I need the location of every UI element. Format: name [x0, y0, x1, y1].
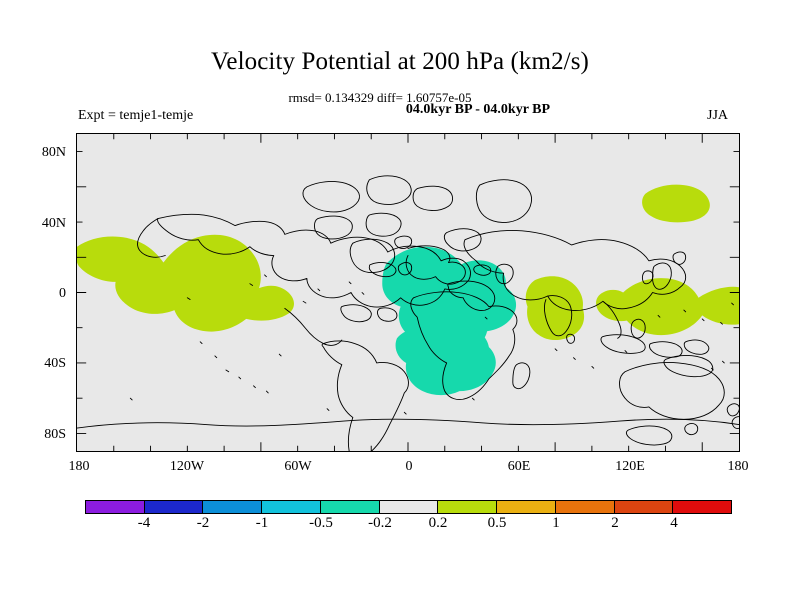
- colorbar-swatch-4: [320, 501, 379, 513]
- colorbar-swatch-10: [672, 501, 731, 513]
- tick-marks-right: [730, 152, 739, 434]
- xtick-label-120w: 120W: [170, 459, 204, 475]
- colorbar-label-9: 4: [670, 515, 678, 532]
- ytick-label-80n: 80N: [42, 145, 66, 161]
- map-plot-area: [76, 133, 740, 452]
- xtick-label-0: 0: [406, 459, 413, 475]
- colorbar-label-7: 1: [552, 515, 560, 532]
- tick-marks-top: [114, 134, 702, 143]
- ytick-label-80s: 80S: [44, 427, 66, 443]
- region-indian-ocean-positive: [526, 276, 584, 340]
- experiment-label: Expt = temje1-temje: [78, 108, 193, 124]
- tick-marks-bottom: [114, 442, 702, 451]
- colorbar-label-3: -0.5: [309, 515, 333, 532]
- colorbar-label-6: 0.5: [488, 515, 507, 532]
- season-label: JJA: [707, 108, 728, 124]
- colorbar-swatch-7: [496, 501, 555, 513]
- plot-canvas: Velocity Potential at 200 hPa (km2/s) rm…: [0, 0, 800, 600]
- xtick-label-60e: 60E: [508, 459, 531, 475]
- region-northeast-asia-positive: [642, 185, 710, 223]
- xtick-label-180w: 180: [69, 459, 90, 475]
- colorbar-swatch-5: [379, 501, 438, 513]
- page-title: Velocity Potential at 200 hPa (km2/s): [0, 48, 800, 76]
- colorbar: [85, 500, 732, 514]
- colorbar-swatch-9: [614, 501, 673, 513]
- colorbar-swatch-1: [144, 501, 203, 513]
- xtick-label-120e: 120E: [615, 459, 645, 475]
- colorbar-label-5: 0.2: [429, 515, 448, 532]
- colorbar-label-4: -0.2: [368, 515, 392, 532]
- ytick-label-40s: 40S: [44, 356, 66, 372]
- colorbar-label-2: -1: [256, 515, 269, 532]
- ytick-label-0: 0: [59, 286, 66, 302]
- colorbar-swatch-8: [555, 501, 614, 513]
- xtick-label-180e: 180: [728, 459, 749, 475]
- colorbar-swatch-3: [261, 501, 320, 513]
- world-map-svg: [77, 134, 739, 451]
- ytick-label-40n: 40N: [42, 216, 66, 232]
- colorbar-label-0: -4: [138, 515, 151, 532]
- region-east-pacific-positive: [77, 235, 294, 332]
- region-west-pacific-positive: [596, 278, 739, 335]
- data-fill-layer: [77, 185, 739, 395]
- region-southern-africa-negative: [396, 322, 496, 395]
- colorbar-label-8: 2: [611, 515, 619, 532]
- colorbar-swatch-2: [202, 501, 261, 513]
- colorbar-swatch-0: [86, 501, 144, 513]
- xtick-label-60w: 60W: [284, 459, 311, 475]
- colorbar-swatch-6: [437, 501, 496, 513]
- colorbar-label-1: -2: [197, 515, 210, 532]
- tick-marks-left: [77, 152, 86, 434]
